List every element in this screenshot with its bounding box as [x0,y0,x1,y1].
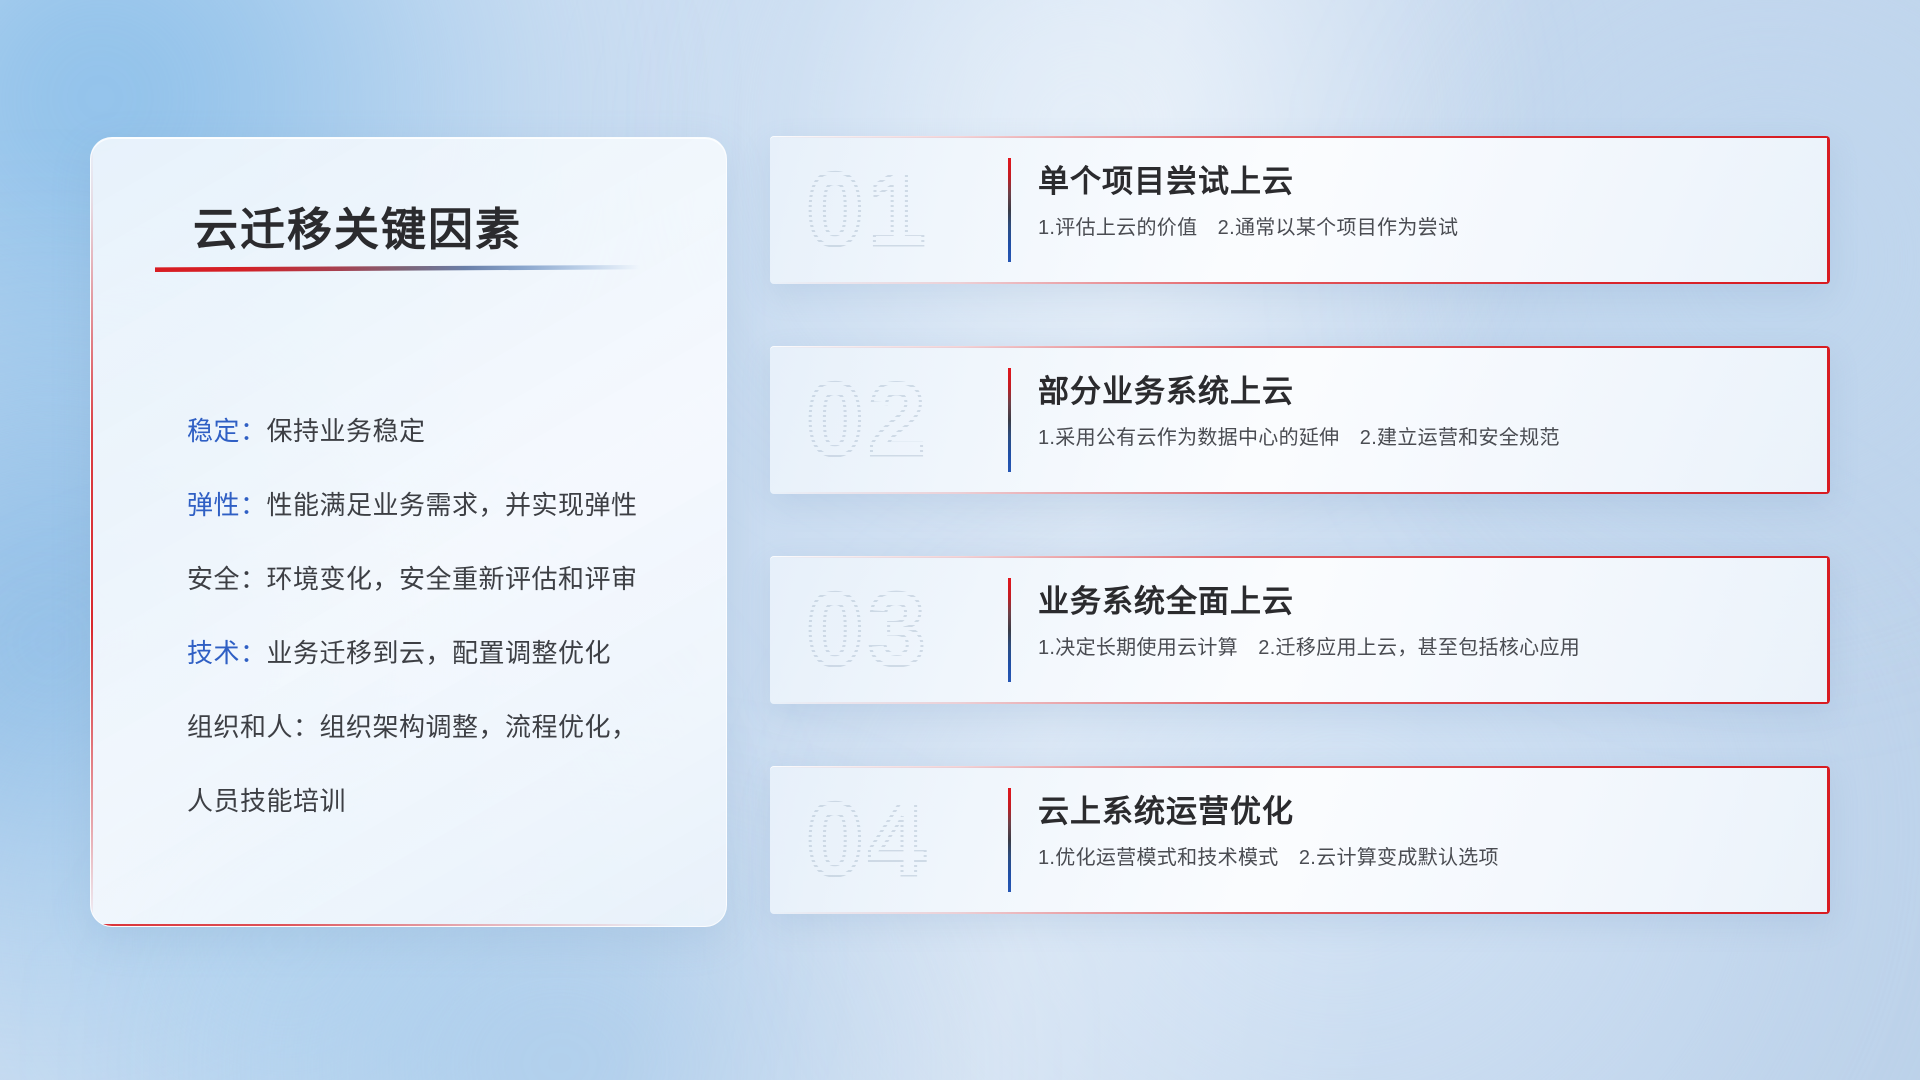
card-subtitle: 1.评估上云的价值 2.通常以某个项目作为尝试 [1038,211,1458,240]
card-title: 云上系统运营优化 [1038,786,1294,831]
card-divider-bar [1008,368,1011,472]
slide-stage: 云迁移关键因素 稳定：保持业务稳定弹性：性能满足业务需求，并实现弹性安全：环境变… [0,0,1920,1080]
card-divider-bar [1008,788,1011,892]
factor-row: 技术：业务迁移到云，配置调整优化 [187,616,692,690]
factor-description: 业务迁移到云，配置调整优化 [267,638,612,668]
factor-label: 弹性： [187,490,267,520]
factor-label: 稳定： [187,416,267,446]
title-underline-accent [155,265,640,272]
card-divider-bar [1008,158,1011,262]
page-title: 云迁移关键因素 [193,193,522,258]
factor-row: 组织和人：组织架构调整，流程优化， [187,690,692,764]
stage-card-01[interactable]: 01单个项目尝试上云1.评估上云的价值 2.通常以某个项目作为尝试 [770,136,1830,284]
factor-description: 人员技能培训 [187,786,346,816]
card-title: 部分业务系统上云 [1038,366,1294,411]
card-accent-edge [1827,556,1830,704]
key-factors-list: 稳定：保持业务稳定弹性：性能满足业务需求，并实现弹性安全：环境变化，安全重新评估… [187,394,692,838]
factor-label: 安全： [187,564,267,594]
card-accent-edge [1827,136,1830,284]
stage-card-04[interactable]: 04云上系统运营优化1.优化运营模式和技术模式 2.云计算变成默认选项 [770,766,1830,914]
card-title: 单个项目尝试上云 [1038,156,1294,201]
card-title: 业务系统全面上云 [1038,576,1294,621]
migration-stage-card-list: 01单个项目尝试上云1.评估上云的价值 2.通常以某个项目作为尝试02部分业务系… [770,136,1830,976]
card-accent-edge [1827,766,1830,914]
card-step-number: 01 [806,150,986,270]
factor-row: 弹性：性能满足业务需求，并实现弹性 [187,468,692,542]
card-subtitle: 1.优化运营模式和技术模式 2.云计算变成默认选项 [1038,841,1499,870]
factor-label: 组织和人： [187,712,320,742]
factor-row: 安全：环境变化，安全重新评估和评审 [187,542,692,616]
factor-description: 环境变化，安全重新评估和评审 [267,564,638,594]
stage-card-03[interactable]: 03业务系统全面上云1.决定长期使用云计算 2.迁移应用上云，甚至包括核心应用 [770,556,1830,704]
card-divider-bar [1008,578,1011,682]
card-accent-edge [1827,346,1830,494]
factor-label: 技术： [187,638,267,668]
card-step-number: 02 [806,360,986,480]
stage-card-02[interactable]: 02部分业务系统上云1.采用公有云作为数据中心的延伸 2.建立运营和安全规范 [770,346,1830,494]
factor-row: 人员技能培训 [187,764,692,838]
card-subtitle: 1.决定长期使用云计算 2.迁移应用上云，甚至包括核心应用 [1038,631,1580,660]
card-step-number: 03 [806,570,986,690]
card-step-number: 04 [806,780,986,900]
card-subtitle: 1.采用公有云作为数据中心的延伸 2.建立运营和安全规范 [1038,421,1560,450]
key-factors-panel: 云迁移关键因素 稳定：保持业务稳定弹性：性能满足业务需求，并实现弹性安全：环境变… [90,137,727,927]
factor-description: 组织架构调整，流程优化， [320,712,638,742]
factor-description: 性能满足业务需求，并实现弹性 [267,490,638,520]
factor-row: 稳定：保持业务稳定 [187,394,692,468]
factor-description: 保持业务稳定 [267,416,426,446]
